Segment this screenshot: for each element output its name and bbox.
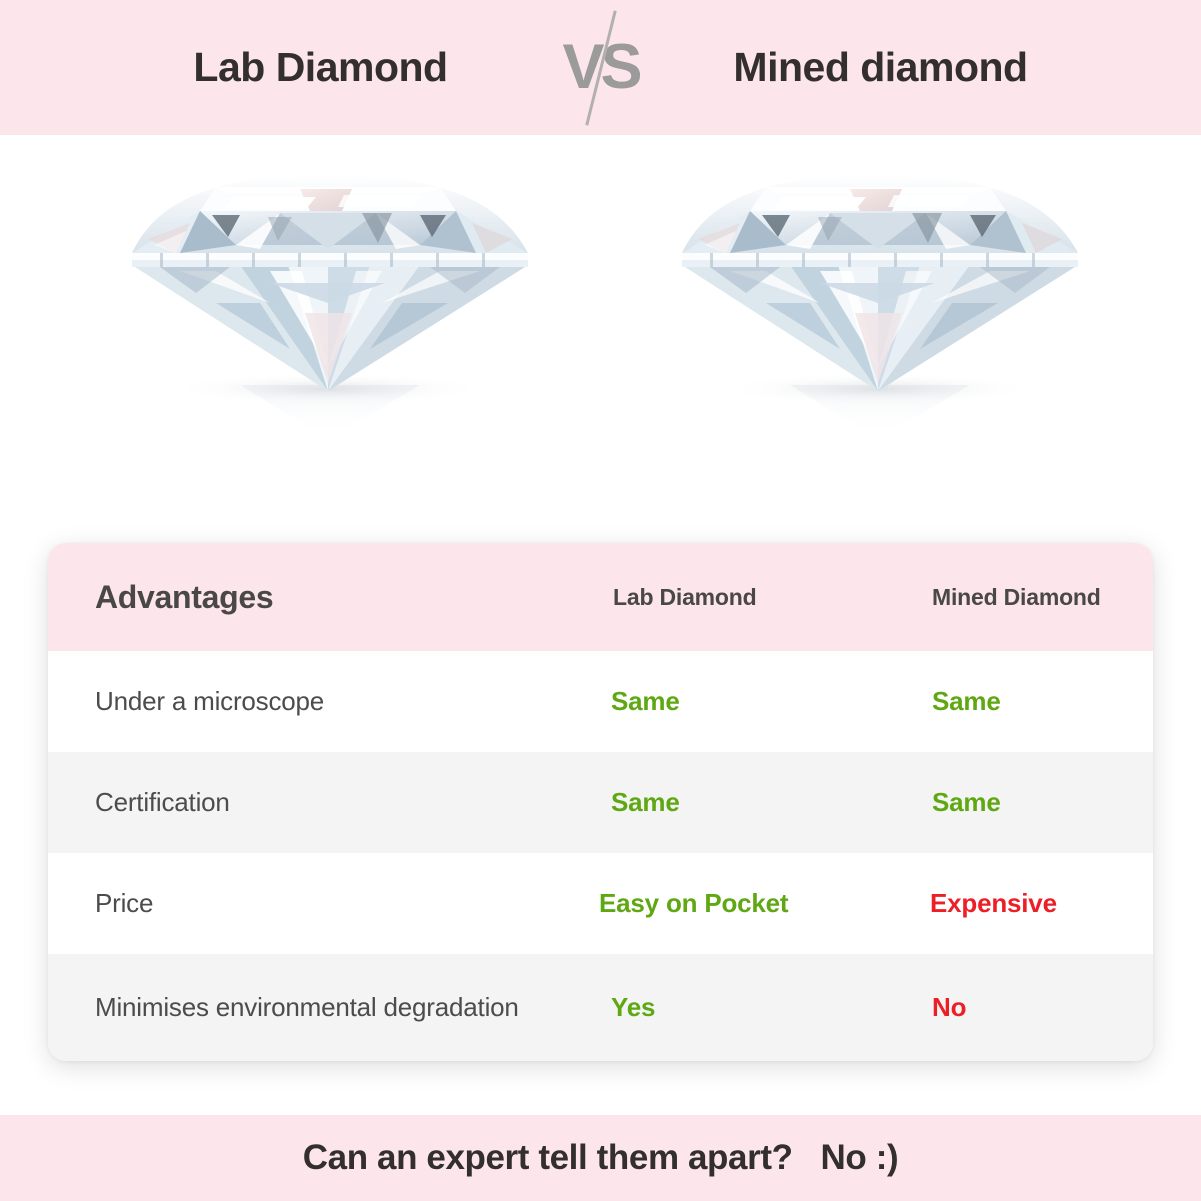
comparison-table-card: Advantages Lab Diamond Mined Diamond Und… xyxy=(48,543,1153,1061)
mined-value-cell: No xyxy=(872,992,1153,1023)
comparison-table: Advantages Lab Diamond Mined Diamond Und… xyxy=(48,543,1153,1061)
header-label-mined-diamond: Mined Diamond xyxy=(920,584,1101,610)
header-cell-mined: Mined Diamond xyxy=(872,584,1153,611)
page-title-lab-diamond: Lab Diamond xyxy=(106,44,536,91)
mined-value: No xyxy=(920,992,966,1022)
vs-badge: VS xyxy=(536,0,666,135)
mined-value: Same xyxy=(920,787,1001,817)
lab-value: Same xyxy=(589,787,680,817)
diamond-icon xyxy=(120,153,540,453)
lab-diamond-image xyxy=(120,153,540,453)
feature-cell: Under a microscope xyxy=(48,683,541,721)
footer-question-text: Can an expert tell them apart? No :) xyxy=(303,1138,898,1178)
feature-cell: Certification xyxy=(48,784,541,822)
mined-value-cell: Same xyxy=(872,787,1153,818)
feature-label: Certification xyxy=(95,787,230,817)
lab-value-cell: Yes xyxy=(541,992,872,1023)
feature-cell: Price xyxy=(48,885,541,923)
lab-value: Yes xyxy=(589,992,655,1022)
feature-label: Minimises environmental degradation xyxy=(95,992,519,1022)
header-cell-lab: Lab Diamond xyxy=(541,584,872,611)
feature-label: Under a microscope xyxy=(95,686,324,716)
mined-value: Expensive xyxy=(920,888,1057,918)
table-row: Under a microscope Same Same xyxy=(48,651,1153,752)
mined-diamond-image xyxy=(670,153,1090,453)
diamond-images-section xyxy=(0,135,1201,535)
footer-banner: Can an expert tell them apart? No :) xyxy=(0,1115,1201,1201)
table-row: Price Easy on Pocket Expensive xyxy=(48,853,1153,954)
lab-value: Same xyxy=(589,686,680,716)
mined-value: Same xyxy=(920,686,1001,716)
table-header-row: Advantages Lab Diamond Mined Diamond xyxy=(48,543,1153,651)
feature-cell: Minimises environmental degradation xyxy=(48,989,541,1027)
header-cell-advantages: Advantages xyxy=(48,579,541,616)
header-banner: Lab Diamond VS Mined diamond xyxy=(0,0,1201,135)
header-label-advantages: Advantages xyxy=(95,579,273,615)
lab-value-cell: Same xyxy=(541,787,872,818)
table-row: Minimises environmental degradation Yes … xyxy=(48,954,1153,1061)
diamond-icon xyxy=(670,153,1090,453)
table-row: Certification Same Same xyxy=(48,752,1153,853)
mined-value-cell: Same xyxy=(872,686,1153,717)
lab-value-cell: Easy on Pocket xyxy=(541,888,872,919)
mined-value-cell: Expensive xyxy=(872,888,1153,919)
lab-value: Easy on Pocket xyxy=(589,888,788,918)
page-title-mined-diamond: Mined diamond xyxy=(666,44,1096,91)
header-label-lab-diamond: Lab Diamond xyxy=(589,584,756,610)
feature-label: Price xyxy=(95,888,153,918)
comparison-infographic: Lab Diamond VS Mined diamond xyxy=(0,0,1201,1201)
lab-value-cell: Same xyxy=(541,686,872,717)
